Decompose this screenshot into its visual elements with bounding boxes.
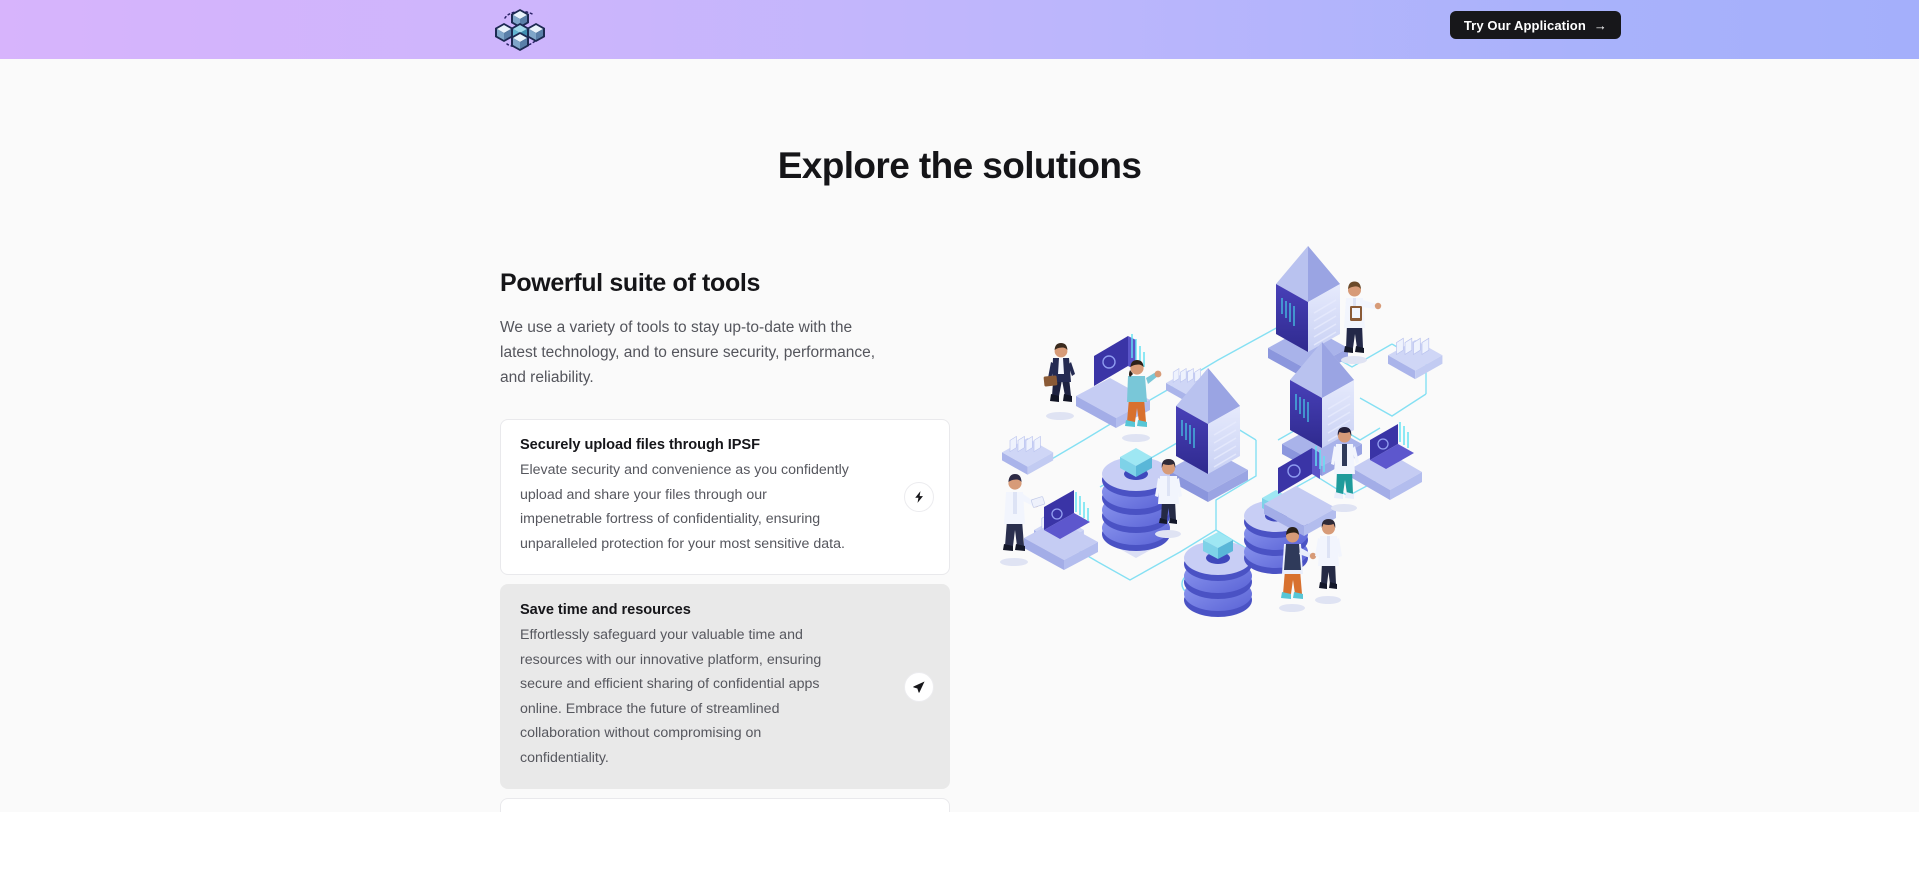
page-title: Explore the solutions bbox=[0, 145, 1919, 187]
solutions-section: Explore the solutions Powerful suite of … bbox=[0, 59, 1919, 812]
feature-card[interactable]: Broad potential including document proce… bbox=[500, 798, 950, 812]
paper-plane-icon bbox=[904, 672, 934, 702]
features-column: Powerful suite of tools We use a variety… bbox=[500, 269, 950, 812]
lightning-bolt-icon bbox=[904, 482, 934, 512]
feature-card[interactable]: Securely upload files through IPSF Eleva… bbox=[500, 419, 950, 575]
network-cubes-logo-icon bbox=[492, 6, 548, 52]
feature-card-body: Effortlessly safeguard your valuable tim… bbox=[520, 623, 850, 770]
feature-card[interactable]: Save time and resources Effortlessly saf… bbox=[500, 584, 950, 789]
column-subheading: We use a variety of tools to stay up-to-… bbox=[500, 315, 885, 390]
try-our-application-button[interactable]: Try Our Application → bbox=[1450, 11, 1621, 39]
content-grid: Powerful suite of tools We use a variety… bbox=[0, 269, 1919, 809]
arrow-right-icon: → bbox=[1594, 19, 1607, 32]
cta-label: Try Our Application bbox=[1464, 18, 1586, 33]
site-header: Sign in Try Our Application → bbox=[0, 0, 1919, 59]
isometric-blockchain-network-illustration bbox=[980, 244, 1450, 644]
feature-card-body: Elevate security and convenience as you … bbox=[520, 458, 850, 556]
brand-logo-link[interactable] bbox=[492, 6, 548, 52]
column-heading: Powerful suite of tools bbox=[500, 269, 950, 298]
feature-card-title: Securely upload files through IPSF bbox=[520, 437, 930, 453]
feature-card-title: Save time and resources bbox=[520, 602, 930, 618]
